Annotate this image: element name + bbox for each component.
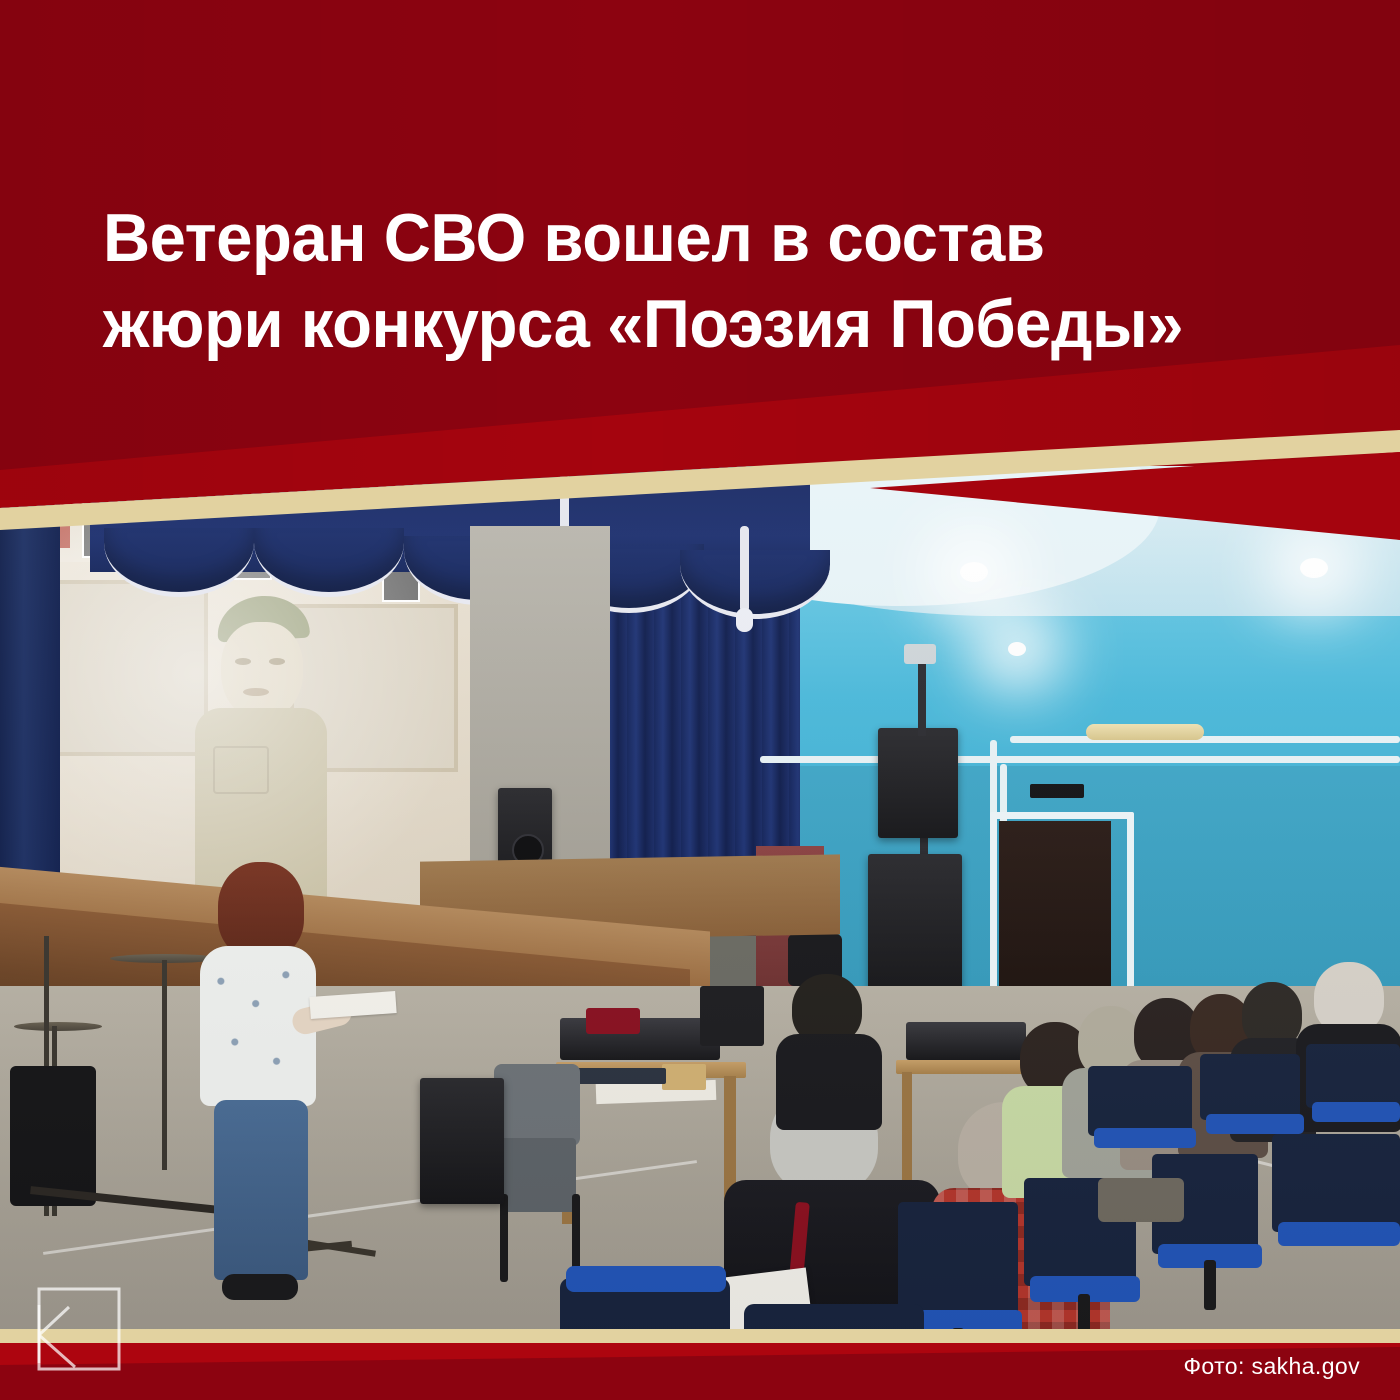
floor-monitor	[420, 1078, 504, 1204]
grey-chair-seat	[494, 1064, 580, 1146]
uniform-pocket	[213, 746, 269, 794]
child-mouth	[243, 688, 269, 696]
chair-seat	[1312, 1102, 1400, 1122]
tripod-mast	[918, 656, 926, 736]
child-on-screen	[195, 596, 327, 896]
wall-light	[960, 562, 988, 582]
laptop	[700, 986, 764, 1046]
chair-seat	[1206, 1114, 1304, 1134]
bass-drum	[10, 1066, 96, 1206]
grey-chair-base	[500, 1138, 576, 1212]
wall-pipe-horizontal	[1010, 736, 1400, 743]
wall-light	[1300, 558, 1328, 578]
chair-seat	[1278, 1222, 1400, 1246]
auditorium-chair	[898, 1202, 1018, 1320]
desk-box	[662, 1064, 706, 1090]
chair-leg	[500, 1194, 508, 1282]
page-title: Ветеран СВО вошел в состав жюри конкурса…	[103, 196, 1293, 367]
gold-footer-stripe	[0, 1329, 1400, 1343]
presenter	[196, 862, 316, 1312]
audience-torso	[776, 1034, 882, 1130]
auditorium-chair	[1272, 1134, 1400, 1232]
keyboard	[570, 1068, 666, 1084]
handbag	[1098, 1178, 1184, 1222]
wall-pipe-horizontal	[760, 756, 1400, 763]
mixer-faderbank	[586, 1008, 640, 1034]
wall-light	[1008, 642, 1026, 656]
brand-logo	[35, 1285, 123, 1373]
chair-seat	[566, 1266, 726, 1292]
photo-credit: Фото: sakha.gov	[1184, 1353, 1360, 1380]
auditorium-chair	[1306, 1044, 1400, 1108]
child-eye	[235, 658, 251, 665]
camera-on-mast	[904, 644, 936, 664]
child-head	[221, 622, 303, 720]
wall-lamp-tube	[1086, 724, 1204, 740]
door-sign	[1030, 784, 1084, 798]
auditorium-chair	[1088, 1066, 1192, 1136]
chair-seat	[1094, 1128, 1196, 1148]
curtain-tassel	[736, 608, 753, 632]
presenter-shoes	[222, 1274, 298, 1300]
audio-mixer	[560, 1018, 720, 1060]
chair-leg-post	[1204, 1260, 1216, 1310]
side-curtain	[0, 466, 60, 936]
cymbal	[14, 1022, 102, 1031]
presenter-jeans	[214, 1100, 308, 1280]
news-card: Ветеран СВО вошел в состав жюри конкурса…	[0, 0, 1400, 1400]
cymbal-stand	[162, 960, 167, 1170]
main-pa-speaker	[878, 728, 958, 838]
auditorium-chair	[1200, 1054, 1300, 1120]
presenter-hair	[218, 862, 304, 958]
audience-member	[776, 974, 884, 1124]
hall-photo	[0, 466, 1400, 1366]
curtain-tassel-cord	[740, 526, 749, 612]
child-eye	[269, 658, 285, 665]
